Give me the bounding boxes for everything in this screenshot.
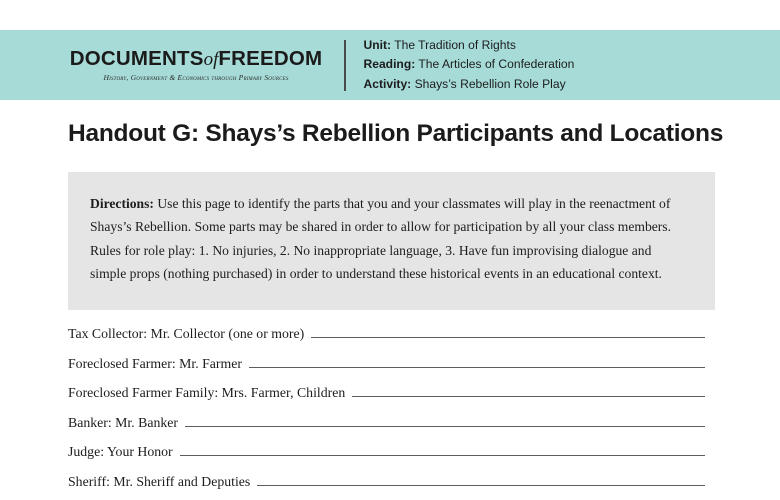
header-vertical-divider [344,40,346,91]
role-blank-foreclosed-farmer-family[interactable] [352,384,705,397]
header-meta-unit-value: The Tradition of Rights [394,38,516,52]
role-label-sheriff: Sheriff: Mr. Sheriff and Deputies [68,474,257,490]
brand-subtitle: History, Government & Economics through … [103,73,288,82]
role-blank-tax-collector[interactable] [311,325,705,338]
role-blank-judge[interactable] [180,443,705,456]
role-label-foreclosed-farmer: Foreclosed Farmer: Mr. Farmer [68,356,249,372]
brand-title-documents: DOCUMENTS [70,47,204,70]
header-meta-activity: Activity: Shays’s Rebellion Role Play [364,76,575,93]
header-meta-activity-value: Shays’s Rebellion Role Play [415,77,566,91]
directions-box: Directions: Use this page to identify th… [68,172,715,310]
role-list: Tax Collector: Mr. Collector (one or mor… [68,325,705,500]
brand-logo: DOCUMENTSofFREEDOM History, Government &… [68,48,324,82]
role-row-sheriff: Sheriff: Mr. Sheriff and Deputies [68,473,705,500]
page-title: Handout G: Shays’s Rebellion Participant… [68,120,723,148]
directions-label: Directions: [90,196,154,211]
role-row-tax-collector: Tax Collector: Mr. Collector (one or mor… [68,325,705,355]
role-label-judge: Judge: Your Honor [68,444,180,460]
header-meta-reading-label: Reading: [364,57,416,71]
role-row-banker: Banker: Mr. Banker [68,414,705,444]
brand-title-freedom: FREEDOM [218,47,322,70]
role-row-foreclosed-farmer: Foreclosed Farmer: Mr. Farmer [68,355,705,385]
header-band: DOCUMENTSofFREEDOM History, Government &… [0,30,780,100]
header-meta-reading-value: The Articles of Confederation [418,57,574,71]
header-meta-reading: Reading: The Articles of Confederation [364,56,575,73]
role-row-judge: Judge: Your Honor [68,443,705,473]
role-label-banker: Banker: Mr. Banker [68,415,185,431]
directions-body: Use this page to identify the parts that… [90,196,671,281]
role-row-foreclosed-farmer-family: Foreclosed Farmer Family: Mrs. Farmer, C… [68,384,705,414]
brand-title-of: of [204,49,219,70]
directions-text: Directions: Use this page to identify th… [90,192,689,286]
role-blank-sheriff[interactable] [257,473,705,486]
brand-title: DOCUMENTSofFREEDOM [70,48,323,70]
header-meta-block: Unit: The Tradition of Rights Reading: T… [364,37,575,93]
header-meta-unit-label: Unit: [364,38,392,52]
role-label-foreclosed-farmer-family: Foreclosed Farmer Family: Mrs. Farmer, C… [68,385,352,401]
role-blank-banker[interactable] [185,414,705,427]
role-label-tax-collector: Tax Collector: Mr. Collector (one or mor… [68,326,311,342]
header-meta-activity-label: Activity: [364,77,412,91]
role-blank-foreclosed-farmer[interactable] [249,355,705,368]
header-meta-unit: Unit: The Tradition of Rights [364,37,575,54]
